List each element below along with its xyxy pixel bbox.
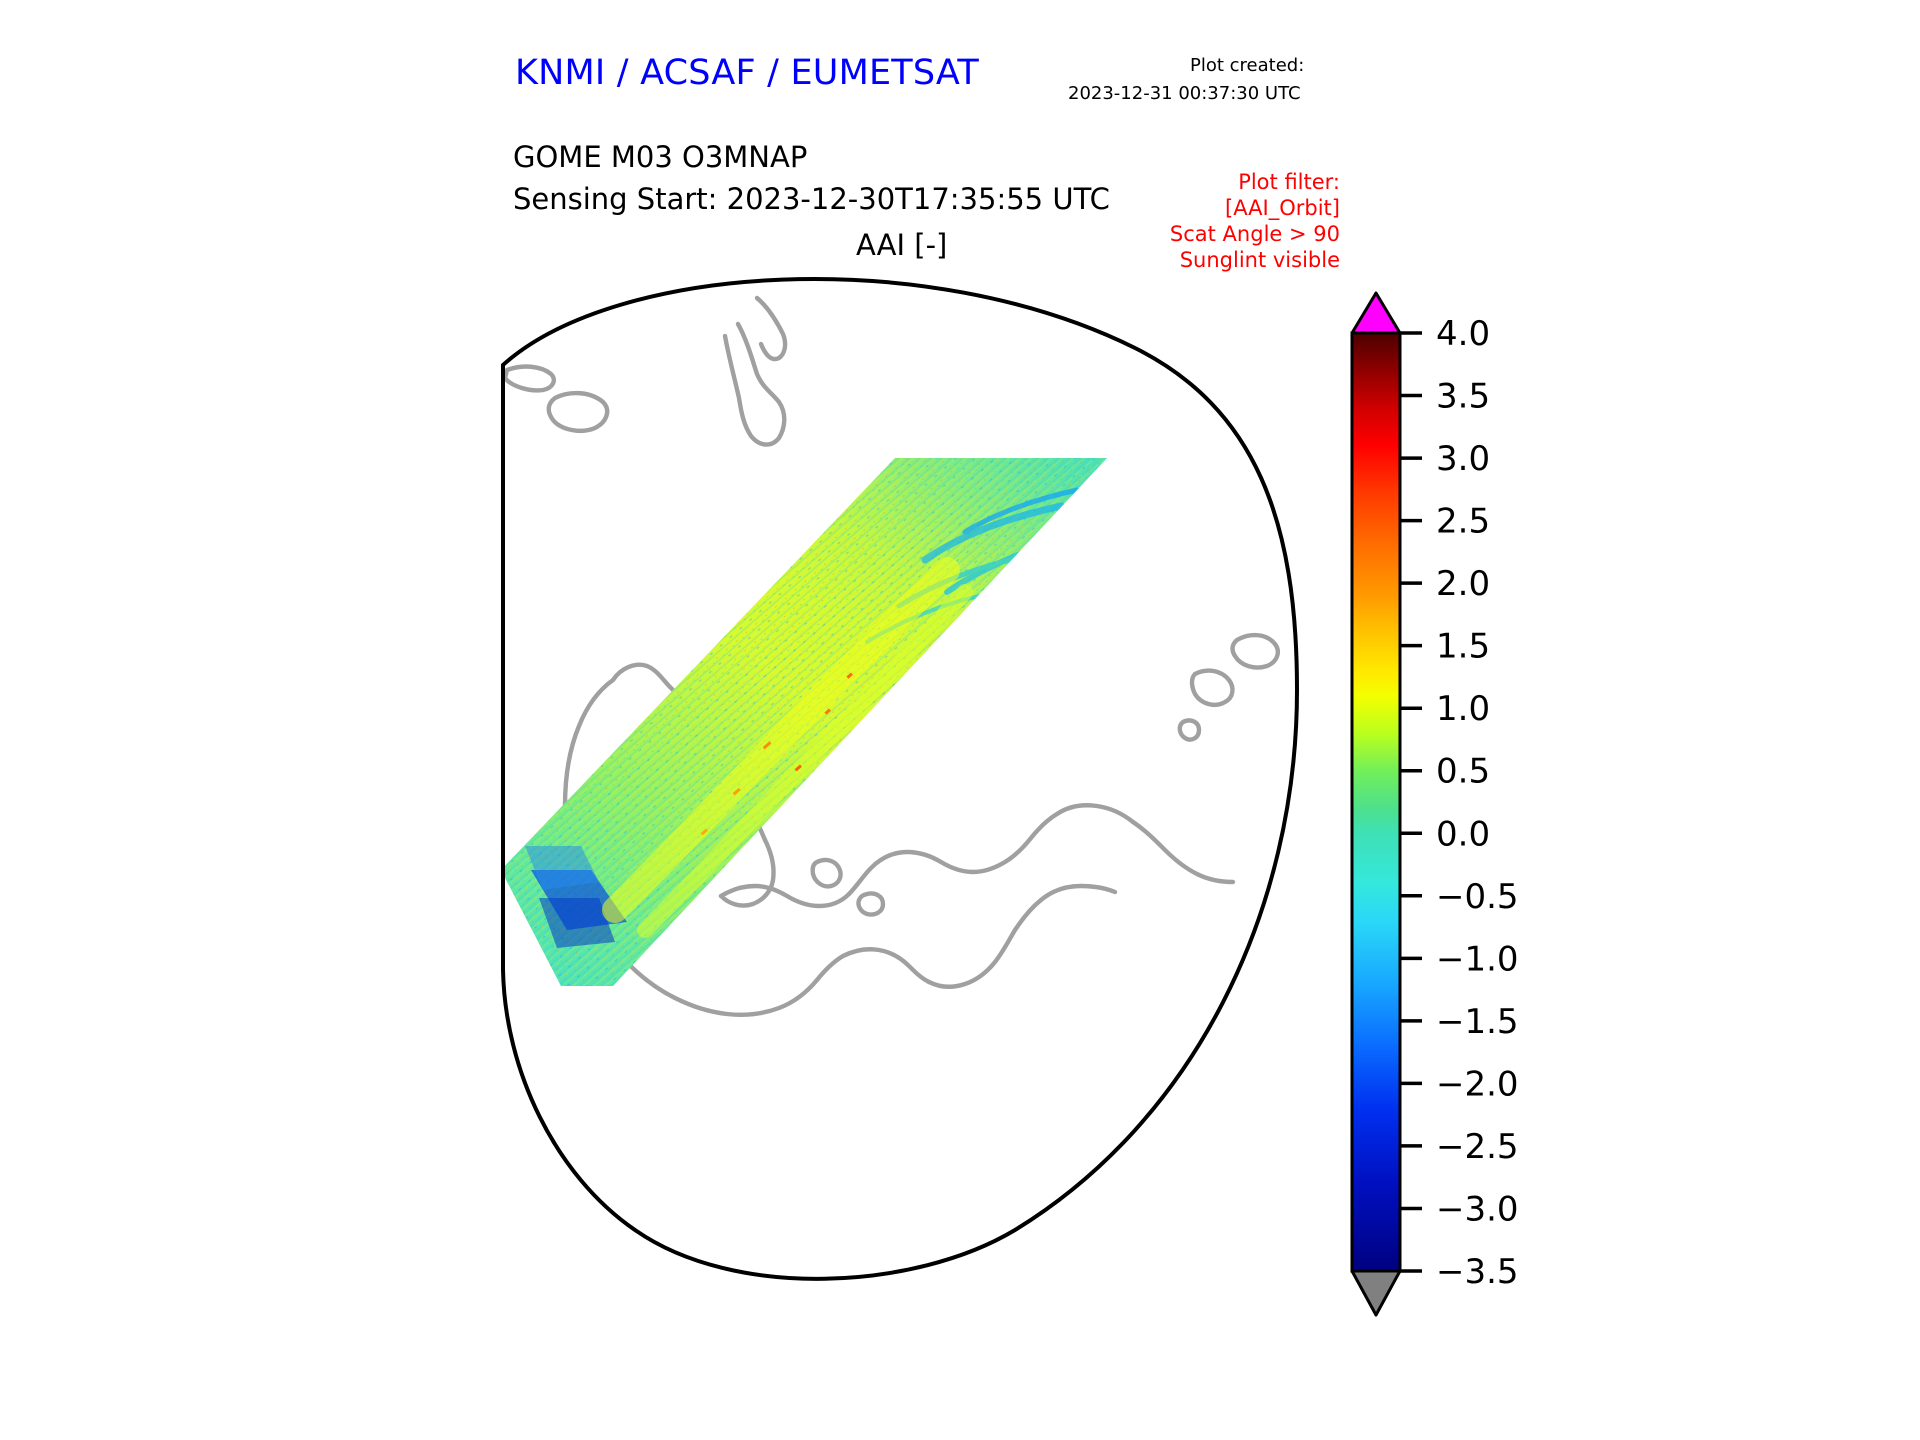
colorbar-tick-label: −1.5 <box>1436 1002 1519 1042</box>
plot-filter-scat-angle: Scat Angle > 90 <box>1020 222 1340 246</box>
colorbar-tick-label: 0.5 <box>1436 752 1490 792</box>
colorbar-tick-label: −3.0 <box>1436 1189 1519 1229</box>
colorbar-tick-label: −3.5 <box>1436 1252 1519 1292</box>
colorbar-tick-label: 1.0 <box>1436 689 1490 729</box>
plot-created-value: 2023-12-31 00:37:30 UTC <box>1068 83 1301 104</box>
organisation-title: KNMI / ACSAF / EUMETSAT <box>515 53 979 93</box>
colorbar-tick-labels: 4.03.53.02.52.01.51.00.50.0−0.5−1.0−1.5−… <box>1436 314 1519 1292</box>
colorbar-tick-label: 3.5 <box>1436 377 1490 417</box>
colorbar-tick-label: −2.0 <box>1436 1064 1519 1104</box>
colorbar-ticks <box>1400 333 1422 1271</box>
colorbar-under-arrow <box>1352 1271 1400 1315</box>
colorbar-tick-label: −2.5 <box>1436 1127 1519 1167</box>
plot-filter-product: [AAI_Orbit] <box>1020 196 1340 220</box>
colorbar-svg: 4.03.53.02.52.01.51.00.50.0−0.5−1.0−1.5−… <box>1340 285 1580 1325</box>
plot-filter-label: Plot filter: <box>1020 170 1340 194</box>
colorbar-gradient <box>1352 333 1400 1271</box>
colorbar-over-arrow <box>1352 293 1400 333</box>
map-area <box>495 270 1305 1310</box>
plot-filter-sunglint: Sunglint visible <box>1020 248 1340 272</box>
colorbar-tick-label: 1.5 <box>1436 627 1490 667</box>
colorbar-tick-label: 2.0 <box>1436 564 1490 604</box>
colorbar-tick-label: 4.0 <box>1436 314 1490 354</box>
colorbar: 4.03.53.02.52.01.51.00.50.0−0.5−1.0−1.5−… <box>1340 285 1580 1325</box>
map-svg <box>495 270 1305 1310</box>
colorbar-tick-label: 3.0 <box>1436 439 1490 479</box>
plot-canvas: KNMI / ACSAF / EUMETSAT Plot created: 20… <box>0 0 1920 1440</box>
plot-created-label: Plot created: <box>1190 55 1304 76</box>
colorbar-tick-label: 0.0 <box>1436 814 1490 854</box>
colorbar-tick-label: −0.5 <box>1436 877 1519 917</box>
quantity-title: AAI [-] <box>856 228 947 262</box>
colorbar-tick-label: 2.5 <box>1436 502 1490 542</box>
instrument-title: GOME M03 O3MNAP <box>513 140 807 174</box>
colorbar-tick-label: −1.0 <box>1436 939 1519 979</box>
